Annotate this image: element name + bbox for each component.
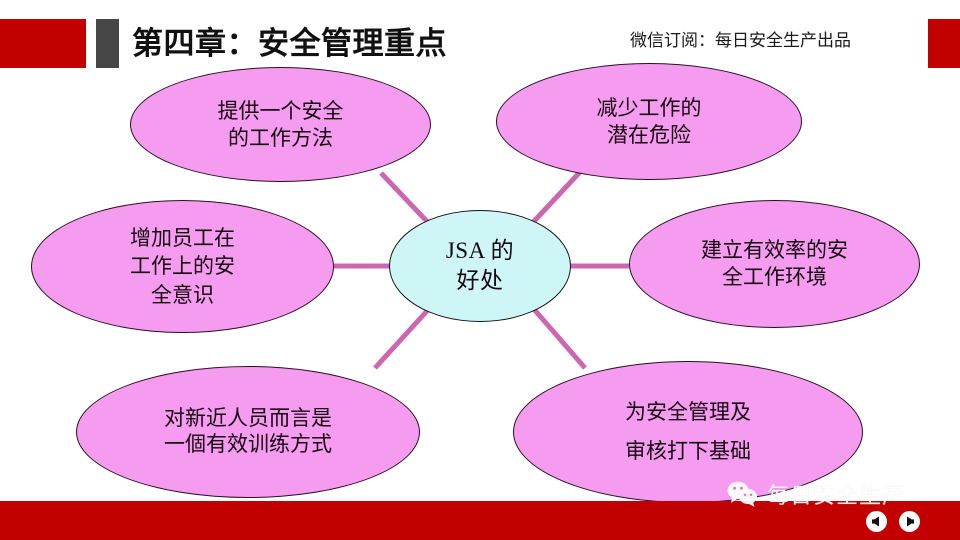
mindmap-node-top-left[interactable]: 提供一个安全 的工作方法 — [130, 67, 431, 182]
node-label: 为安全管理及 审核打下基础 — [611, 393, 765, 471]
prev-slide-button[interactable] — [866, 511, 887, 532]
node-label: 对新近人员而言是 一個有效训练方式 — [150, 406, 346, 457]
mind-map-diagram: 提供一个安全 的工作方法 减少工作的 潜在危险 增加员工在 工作上的安 全意识 … — [0, 58, 960, 510]
arrow-right-icon — [903, 515, 916, 528]
mindmap-node-bottom-left[interactable]: 对新近人员而言是 一個有效训练方式 — [76, 366, 420, 498]
mindmap-node-center[interactable]: JSA 的 好处 — [389, 210, 571, 322]
mindmap-node-middle-right[interactable]: 建立有效率的安 全工作环境 — [629, 200, 920, 328]
watermark: 每日安全生产 — [726, 476, 946, 512]
mindmap-node-middle-left[interactable]: 增加员工在 工作上的安 全意识 — [31, 200, 334, 333]
node-label: 提供一个安全 的工作方法 — [204, 98, 358, 152]
node-label: 减少工作的 潜在危险 — [583, 95, 716, 149]
slide-canvas: 第四章：安全管理重点 微信订阅：每日安全生产出品 提供一个安全 的工作方法 — [0, 0, 960, 540]
node-label: JSA 的 好处 — [432, 236, 528, 297]
node-label: 建立有效率的安 全工作环境 — [687, 237, 862, 291]
next-slide-button[interactable] — [899, 511, 920, 532]
watermark-text: 每日安全生产 — [767, 478, 905, 510]
navigation-buttons — [866, 511, 920, 532]
node-label: 增加员工在 工作上的安 全意识 — [116, 224, 249, 308]
mindmap-node-top-right[interactable]: 减少工作的 潜在危险 — [496, 63, 802, 180]
subscription-note: 微信订阅：每日安全生产出品 — [630, 24, 851, 58]
arrow-left-icon — [870, 515, 883, 528]
wechat-icon — [726, 480, 760, 508]
